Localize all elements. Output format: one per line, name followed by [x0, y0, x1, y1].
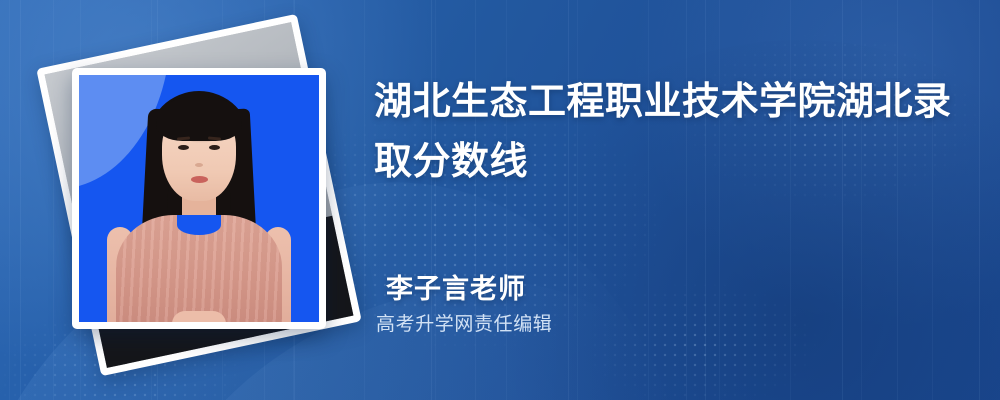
avatar — [79, 75, 319, 322]
banner-content: 湖北生态工程职业技术学院湖北录取分数线 李子言老师 高考升学网责任编辑 — [374, 0, 970, 400]
portrait-eye-left — [178, 145, 189, 150]
portrait-nose — [195, 163, 203, 167]
portrait-lips — [191, 176, 208, 183]
author-block: 李子言老师 高考升学网责任编辑 — [386, 272, 552, 338]
portrait-collar-gap — [177, 215, 221, 235]
portrait-eye-right — [209, 145, 220, 150]
photo-card-stack — [36, 32, 346, 362]
author-role: 高考升学网责任编辑 — [376, 312, 552, 338]
author-name: 李子言老师 — [386, 272, 552, 306]
article-header-banner: 湖北生态工程职业技术学院湖北录取分数线 李子言老师 高考升学网责任编辑 — [0, 0, 1000, 400]
portrait-hair-fringe — [156, 97, 242, 141]
portrait-hands — [172, 311, 226, 329]
page-title: 湖北生态工程职业技术学院湖北录取分数线 — [374, 72, 954, 192]
photo-card-front — [72, 68, 326, 329]
